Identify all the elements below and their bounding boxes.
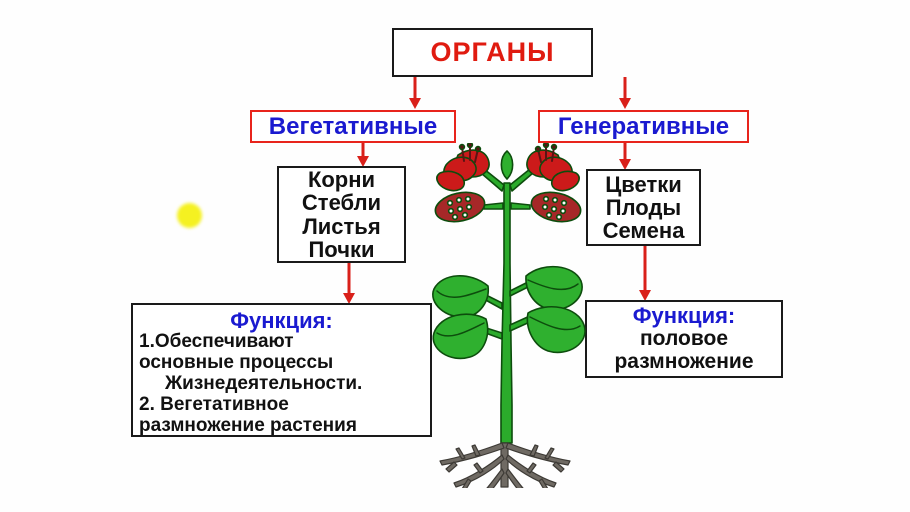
plant-flower xyxy=(437,143,489,191)
plant-fruit xyxy=(529,188,584,226)
arrow-title-to-vegetative xyxy=(402,77,428,109)
plant-fruit xyxy=(433,188,488,226)
fruit-stalk xyxy=(511,203,530,209)
organ-item: Корни xyxy=(308,168,375,191)
function-line: 2. Вегетативное xyxy=(139,395,424,416)
arrow-generative-to-organs xyxy=(612,143,638,170)
yellow-dot xyxy=(177,203,202,228)
branch-label-vegetative: Вегетативные xyxy=(269,115,437,139)
function-line: размножение растения xyxy=(139,416,424,437)
organ-item: Почки xyxy=(308,238,374,261)
diagram-canvas: ОРГАНЫ Вегетативные Генеративные Корни С… xyxy=(0,0,910,512)
organ-item: Листья xyxy=(302,215,380,238)
function-line: половое xyxy=(591,327,777,350)
plant-roots xyxy=(440,443,570,488)
function-title: Функция: xyxy=(139,309,424,332)
branch-box-vegetative: Вегетативные xyxy=(250,110,456,143)
plant-flower xyxy=(527,143,579,191)
function-line: размножение xyxy=(591,350,777,373)
plant-bud xyxy=(501,151,512,179)
arrow-organs-to-function-vegetative xyxy=(336,263,362,304)
arrow-vegetative-to-organs xyxy=(350,143,376,167)
function-box-vegetative: Функция: 1.Обеспечивают основные процесс… xyxy=(131,303,432,437)
plant-leaf xyxy=(433,314,487,358)
organ-item: Семена xyxy=(603,219,685,242)
plant-stem xyxy=(501,183,512,443)
arrow-organs-to-function-generative xyxy=(632,246,658,301)
plant-illustration-icon xyxy=(418,143,598,488)
organ-item: Стебли xyxy=(302,191,381,214)
organ-list-generative: Цветки Плоды Семена xyxy=(586,169,701,246)
arrow-title-to-generative xyxy=(612,77,638,109)
function-title: Функция: xyxy=(591,304,777,327)
function-box-generative: Функция: половое размножение xyxy=(585,300,783,378)
organ-list-vegetative: Корни Стебли Листья Почки xyxy=(277,166,406,263)
function-line: основные процессы xyxy=(139,353,424,374)
plant-leaf xyxy=(527,307,585,353)
organ-item: Плоды xyxy=(606,196,681,219)
function-line: Жизнедеятельности. xyxy=(139,374,424,395)
title-box-organy: ОРГАНЫ xyxy=(392,28,593,77)
function-line: 1.Обеспечивают xyxy=(139,332,424,353)
branch-box-generative: Генеративные xyxy=(538,110,749,143)
fruit-stalk xyxy=(484,203,503,209)
organ-item: Цветки xyxy=(605,173,682,196)
title-text: ОРГАНЫ xyxy=(430,39,554,66)
branch-label-generative: Генеративные xyxy=(558,115,729,139)
